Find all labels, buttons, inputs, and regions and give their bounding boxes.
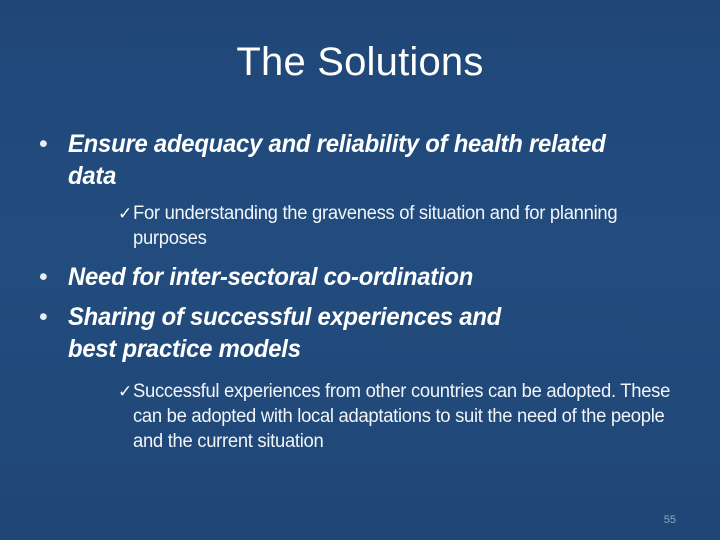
bullet-item: • Ensure adequacy and reliability of hea… (0, 128, 720, 192)
bullet-dot-icon: • (39, 128, 53, 160)
check-mark-icon: ✓ (118, 201, 134, 226)
sub-bullet-item: ✓ Successful experiences from other coun… (0, 379, 720, 454)
check-mark-icon: ✓ (118, 379, 134, 404)
bullet-dot-icon: • (39, 261, 53, 293)
bullet-item: • Sharing of successful experiences and … (0, 301, 720, 365)
slide-title: The Solutions (0, 38, 720, 86)
bullet-item-text: Sharing of successful experiences and be… (68, 301, 668, 365)
sub-bullet-item-text: For understanding the graveness of situa… (133, 201, 673, 251)
sub-bullet-item-text: Successful experiences from other countr… (133, 379, 673, 454)
bullet-item-text: Ensure adequacy and reliability of healt… (68, 128, 668, 192)
slide-body: • Ensure adequacy and reliability of hea… (0, 128, 720, 454)
sub-bullet-item: ✓ For understanding the graveness of sit… (0, 201, 720, 251)
bullet-item: • Need for inter-sectoral co-ordination (0, 261, 720, 293)
presentation-slide: The Solutions • Ensure adequacy and reli… (0, 0, 720, 540)
bullet-dot-icon: • (39, 301, 53, 333)
slide-page-number: 55 (664, 513, 676, 527)
bullet-item-text: Need for inter-sectoral co-ordination (68, 261, 668, 293)
